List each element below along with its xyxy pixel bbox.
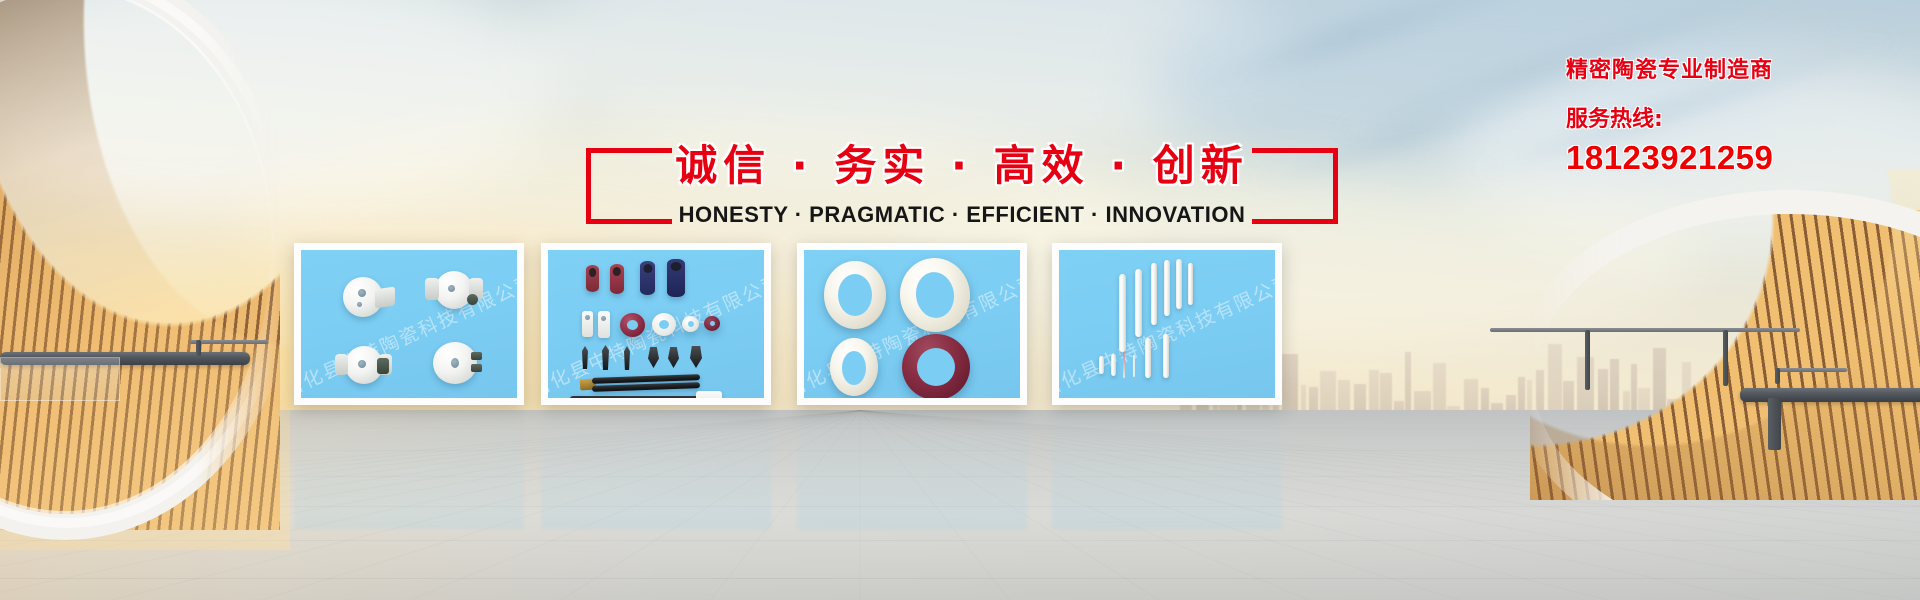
product-panel-4[interactable]: 新化县中特陶瓷科技有限公司	[1052, 243, 1282, 405]
ceramic-tip	[582, 346, 588, 369]
company-tagline: 精密陶瓷专业制造商	[1566, 52, 1896, 84]
ceramic-tube-blue	[640, 261, 655, 295]
ceramic-ring-red	[620, 313, 645, 337]
base-tab	[425, 278, 439, 300]
ceramic-rod	[1176, 259, 1182, 309]
cloud-streak	[1186, 0, 1593, 100]
ring-bore	[688, 321, 694, 327]
ceramic-plate	[582, 311, 593, 337]
ring-bore	[913, 270, 957, 321]
railing-handrail-left	[190, 340, 268, 344]
base-contact	[471, 352, 482, 360]
ceramic-rod	[1151, 263, 1157, 325]
railing-bar-right	[1740, 388, 1920, 402]
ceramic-base-part	[433, 342, 477, 384]
mounting-hole	[357, 302, 362, 307]
hotline-label: 服务热线:	[1566, 101, 1896, 133]
ceramic-pin	[1099, 356, 1104, 374]
railing-bracket-post	[1775, 368, 1780, 384]
ceramic-ring-white	[682, 316, 699, 332]
ceramic-ring-large	[824, 261, 886, 329]
ceramic-pin	[1111, 354, 1116, 376]
product-panel-3[interactable]: 新化县中特陶瓷科技有限公司	[797, 243, 1027, 405]
ceramic-ring-large	[895, 253, 975, 336]
ring-bore	[842, 351, 866, 385]
base-tab	[335, 354, 348, 375]
ceramic-pin	[1145, 338, 1151, 378]
panel-2-image: 新化县中特陶瓷科技有限公司	[548, 250, 764, 398]
tube-bore	[671, 262, 682, 271]
railing-handrail-right	[1490, 328, 1800, 332]
product-panel-2[interactable]: 新化县中特陶瓷科技有限公司	[541, 243, 771, 405]
panel-3-image: 新化县中特陶瓷科技有限公司	[804, 250, 1020, 398]
ceramic-rod	[1135, 269, 1142, 337]
ring-bore	[917, 348, 955, 386]
railing-post-right	[1723, 330, 1728, 386]
ceramic-tip	[624, 346, 630, 370]
ceramic-plate	[598, 311, 610, 338]
ceramic-rod	[1164, 260, 1170, 316]
glass-railing-panel	[0, 357, 120, 401]
panel-4-image: 新化县中特陶瓷科技有限公司	[1059, 250, 1275, 398]
ceramic-base-part	[435, 271, 473, 309]
panel-1-image: 新化县中特陶瓷科技有限公司	[301, 250, 517, 398]
railing-post-right	[1585, 330, 1590, 390]
ceramic-ring-red	[704, 316, 720, 331]
mounting-hole	[448, 285, 455, 292]
slogan-chinese: 诚信 · 务实 · 高效 · 创新	[586, 132, 1338, 193]
ceramic-tube-blue	[667, 259, 685, 297]
tube-bore	[589, 268, 597, 277]
base-contact	[377, 358, 389, 374]
ceramic-rod	[1119, 274, 1126, 352]
ceramic-ring-medium	[830, 338, 878, 396]
tube-bore	[643, 264, 652, 273]
left-canopy-structure	[0, 0, 290, 550]
cable-connector	[696, 391, 722, 398]
ceramic-needle	[1133, 355, 1135, 377]
tube-bore	[613, 267, 621, 276]
product-banner: 诚信 · 务实 · 高效 · 创新 HONESTY · PRAGMATIC · …	[0, 0, 1920, 600]
railing-leg-right	[1768, 398, 1781, 450]
base-contact	[467, 294, 478, 305]
slogan-block: 诚信 · 务实 · 高效 · 创新 HONESTY · PRAGMATIC · …	[586, 148, 1338, 226]
product-panel-1[interactable]: 新化县中特陶瓷科技有限公司	[294, 243, 524, 405]
ceramic-pin	[1163, 334, 1169, 378]
railing-post-left	[196, 340, 201, 356]
cable-lead	[570, 396, 698, 398]
plate-hole	[585, 315, 590, 320]
plate-hole	[601, 316, 606, 321]
ring-bore	[659, 320, 669, 329]
ceramic-tube-red	[610, 264, 624, 294]
ring-bore	[710, 321, 715, 326]
hotline-number[interactable]: 18123921259	[1566, 139, 1896, 177]
ceramic-ring-red	[902, 334, 970, 398]
ring-bore	[627, 320, 638, 330]
ceramic-tube-red	[586, 265, 599, 292]
mounting-hole	[451, 358, 459, 368]
ceramic-tip	[690, 346, 702, 368]
cable-lead	[592, 382, 700, 392]
base-contact	[471, 364, 482, 372]
ceramic-tip	[648, 347, 659, 368]
contact-block: 精密陶瓷专业制造商 服务热线: 18123921259	[1566, 52, 1896, 177]
ceramic-needle	[1123, 352, 1125, 378]
floor-tile-line	[860, 411, 861, 600]
slogan-english: HONESTY · PRAGMATIC · EFFICIENT · INNOVA…	[586, 202, 1338, 228]
panel-1-watermark: 新化县中特陶瓷科技有限公司	[301, 266, 517, 398]
base-tab	[375, 287, 395, 309]
ceramic-tip	[668, 347, 679, 368]
floor-tile-line	[0, 578, 1920, 579]
mounting-hole	[358, 360, 366, 368]
railing-bracket-right	[1775, 368, 1847, 372]
ring-bore	[838, 274, 872, 316]
mounting-hole	[358, 289, 366, 297]
ceramic-rod	[1188, 263, 1193, 305]
ceramic-ring-white	[652, 313, 676, 336]
ceramic-tip	[602, 345, 609, 370]
